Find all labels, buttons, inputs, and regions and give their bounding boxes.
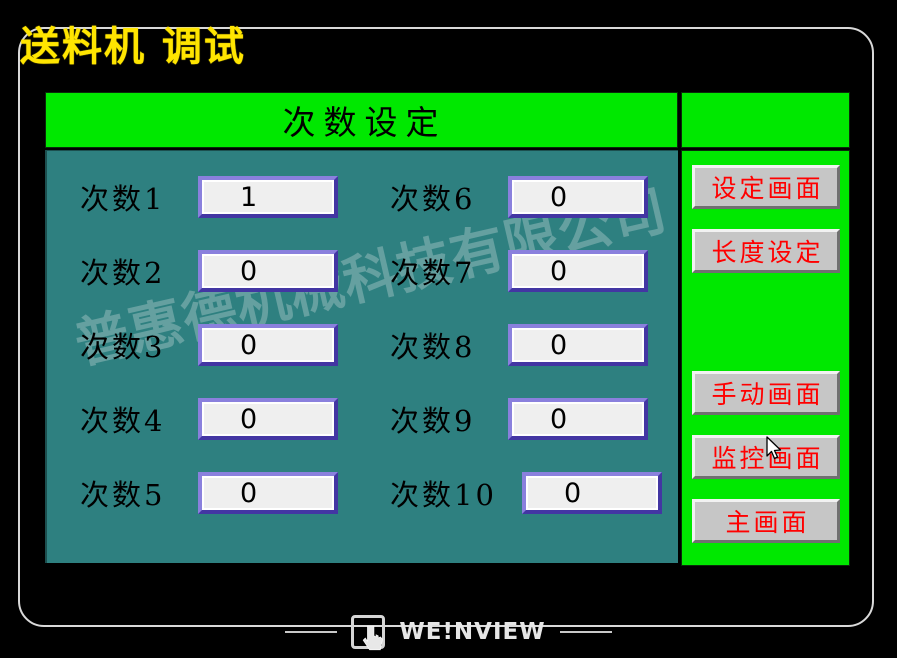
- count-input-次数4[interactable]: 0: [198, 398, 338, 440]
- count-row-left-3: 次数30: [80, 321, 338, 369]
- count-label: 次数3: [80, 324, 198, 366]
- count-label: 次数7: [390, 250, 508, 292]
- count-label: 次数5: [80, 472, 198, 514]
- hmi-screen: 送料机 调试 次数设定 普惠德机械科技有限公司 次数11次数20次数30次数40…: [0, 0, 897, 658]
- nav-button-长度设定[interactable]: 长度设定: [692, 229, 840, 273]
- nav-button-设定画面[interactable]: 设定画面: [692, 165, 840, 209]
- count-row-left-2: 次数20: [80, 247, 338, 295]
- count-row-right-4: 次数90: [390, 395, 648, 443]
- header-title: 次数设定: [46, 93, 677, 147]
- nav-button-主画面[interactable]: 主画面: [692, 499, 840, 543]
- count-label: 次数4: [80, 398, 198, 440]
- count-row-left-4: 次数40: [80, 395, 338, 443]
- count-input-次数8[interactable]: 0: [508, 324, 648, 366]
- header-stub: [681, 92, 850, 148]
- count-field-grid: 次数11次数20次数30次数40次数50次数60次数70次数80次数90次数10…: [47, 151, 678, 563]
- count-label: 次数6: [390, 176, 508, 218]
- count-row-right-3: 次数80: [390, 321, 648, 369]
- count-row-left-1: 次数11: [80, 173, 338, 221]
- brand-rule-left: [285, 631, 337, 633]
- brand-footer: WE!NVIEW: [0, 612, 897, 652]
- count-input-次数3[interactable]: 0: [198, 324, 338, 366]
- brand-name: WE!NVIEW: [399, 619, 545, 645]
- touch-hand-icon: [351, 615, 385, 649]
- count-input-次数6[interactable]: 0: [508, 176, 648, 218]
- count-input-次数7[interactable]: 0: [508, 250, 648, 292]
- count-input-次数1[interactable]: 1: [198, 176, 338, 218]
- count-input-次数2[interactable]: 0: [198, 250, 338, 292]
- navigation-side-panel: 设定画面长度设定手动画面监控画面主画面: [681, 150, 850, 566]
- count-row-right-2: 次数70: [390, 247, 648, 295]
- count-row-right-5: 次数100: [390, 469, 662, 517]
- count-label: 次数9: [390, 398, 508, 440]
- brand-rule-right: [560, 631, 612, 633]
- nav-button-监控画面[interactable]: 监控画面: [692, 435, 840, 479]
- count-input-次数10[interactable]: 0: [522, 472, 662, 514]
- header-band: 次数设定: [45, 92, 678, 148]
- count-input-次数5[interactable]: 0: [198, 472, 338, 514]
- hmi-page: 次数设定 普惠德机械科技有限公司 次数11次数20次数30次数40次数50次数6…: [45, 92, 850, 570]
- count-row-right-1: 次数60: [390, 173, 648, 221]
- count-label: 次数1: [80, 176, 198, 218]
- count-label: 次数10: [390, 472, 522, 514]
- count-label: 次数8: [390, 324, 508, 366]
- nav-button-手动画面[interactable]: 手动画面: [692, 371, 840, 415]
- page-title: 送料机 调试: [20, 14, 246, 72]
- hand-glyph: [362, 624, 388, 652]
- count-input-次数9[interactable]: 0: [508, 398, 648, 440]
- count-row-left-5: 次数50: [80, 469, 338, 517]
- content-panel: 普惠德机械科技有限公司 次数11次数20次数30次数40次数50次数60次数70…: [45, 150, 678, 563]
- count-label: 次数2: [80, 250, 198, 292]
